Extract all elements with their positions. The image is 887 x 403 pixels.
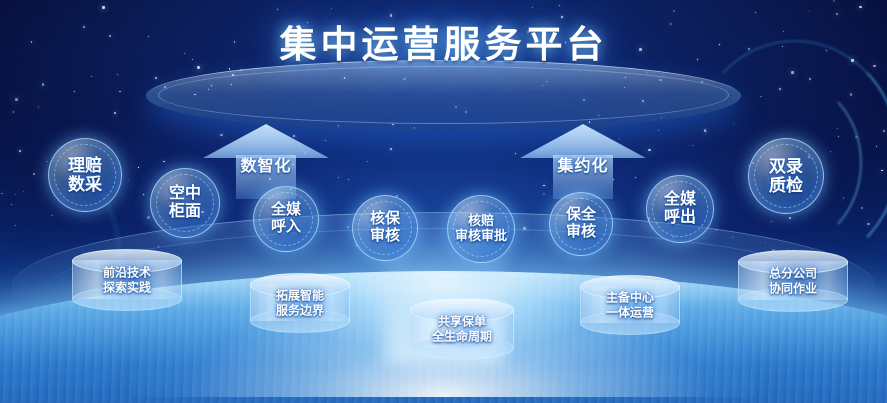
title-platform-rim xyxy=(158,66,729,124)
foundation-cylinder-label: 主备中心一体运营 xyxy=(580,290,680,319)
star-particle xyxy=(138,167,139,168)
star-particle xyxy=(771,221,772,222)
star-particle xyxy=(838,136,839,137)
star-particle xyxy=(128,180,129,181)
star-particle xyxy=(876,146,877,147)
capability-bubble-label: 空中柜面 xyxy=(166,185,204,221)
star-particle xyxy=(91,76,92,77)
star-particle xyxy=(658,130,659,131)
star-particle xyxy=(867,223,870,226)
star-particle xyxy=(559,5,560,6)
star-particle xyxy=(861,207,863,209)
star-particle xyxy=(843,197,845,199)
foundation-cylinder[interactable]: 共享保单全生命周期 xyxy=(410,298,514,360)
foundation-cylinder[interactable]: 拓展智能服务边界 xyxy=(250,273,350,333)
star-particle xyxy=(733,123,734,124)
star-particle xyxy=(705,131,707,133)
star-particle xyxy=(119,91,121,93)
star-particle xyxy=(515,153,516,154)
star-particle xyxy=(155,77,157,79)
capability-bubble[interactable]: 保全审核 xyxy=(549,192,613,256)
star-particle xyxy=(38,106,39,107)
star-particle xyxy=(11,204,12,205)
star-particle xyxy=(755,12,756,13)
star-particle xyxy=(532,7,533,8)
star-particle xyxy=(859,6,861,8)
star-particle xyxy=(779,88,781,90)
capability-bubble-label: 全媒呼出 xyxy=(661,191,699,227)
capability-bubble[interactable]: 核赔审核审批 xyxy=(447,195,515,263)
star-particle xyxy=(338,177,340,179)
foundation-cylinder[interactable]: 前沿技术探索实践 xyxy=(72,249,182,311)
star-particle xyxy=(117,74,118,75)
star-particle xyxy=(791,71,794,74)
star-particle xyxy=(830,151,831,152)
star-particle xyxy=(51,215,52,216)
infographic-canvas: 集中运营服务平台 数智化 集约化 理赔数采空中柜面全媒呼入核保审核核赔审核审批保… xyxy=(0,0,887,403)
foundation-cylinder[interactable]: 总分公司协同作业 xyxy=(738,250,848,312)
star-particle xyxy=(15,194,16,195)
star-particle xyxy=(23,191,24,192)
capability-bubble[interactable]: 理赔数采 xyxy=(48,138,122,212)
star-particle xyxy=(277,9,278,10)
star-particle xyxy=(809,11,810,12)
capability-bubble[interactable]: 空中柜面 xyxy=(150,168,220,238)
star-particle xyxy=(881,170,883,172)
star-particle xyxy=(229,68,231,70)
star-particle xyxy=(42,83,44,85)
star-particle xyxy=(760,96,762,98)
star-particle xyxy=(46,161,47,162)
star-particle xyxy=(348,179,349,180)
star-particle xyxy=(19,150,21,152)
arrow-label-right: 集约化 xyxy=(520,152,646,176)
arrow-label-left: 数智化 xyxy=(203,152,329,176)
star-particle xyxy=(390,148,392,150)
capability-bubble-label: 双录质检 xyxy=(766,157,806,195)
foundation-cylinder-label: 共享保单全生命周期 xyxy=(410,314,514,343)
star-particle xyxy=(143,194,144,195)
capability-bubble-label: 理赔数采 xyxy=(65,156,105,194)
star-particle xyxy=(33,173,36,176)
star-particle xyxy=(673,10,675,12)
foundation-cylinder-label: 前沿技术探索实践 xyxy=(72,265,182,294)
star-particle xyxy=(833,0,835,2)
capability-bubble[interactable]: 全媒呼入 xyxy=(253,186,319,252)
star-particle xyxy=(809,78,811,80)
foundation-cylinder-label: 拓展智能服务边界 xyxy=(250,288,350,317)
star-particle xyxy=(102,6,105,9)
arrow-jiyuehua: 集约化 xyxy=(520,124,646,198)
star-particle xyxy=(15,98,18,101)
star-particle xyxy=(1,193,2,194)
capability-bubble-label: 核保审核 xyxy=(367,211,403,245)
star-particle xyxy=(850,93,852,95)
star-particle xyxy=(367,161,368,162)
star-particle xyxy=(704,129,707,132)
star-particle xyxy=(648,149,651,152)
star-particle xyxy=(692,145,693,146)
star-particle xyxy=(114,112,116,114)
star-particle xyxy=(883,130,885,132)
star-particle xyxy=(837,128,838,129)
capability-bubble[interactable]: 核保审核 xyxy=(352,195,418,261)
star-particle xyxy=(855,136,858,139)
star-particle xyxy=(13,111,14,112)
page-title-text: 集中运营服务平台 xyxy=(280,14,608,68)
star-particle xyxy=(163,161,164,162)
arrow-shuzhihua: 数智化 xyxy=(203,124,329,198)
capability-bubble[interactable]: 全媒呼出 xyxy=(646,175,714,243)
foundation-cylinder[interactable]: 主备中心一体运营 xyxy=(580,275,680,335)
star-particle xyxy=(789,217,791,219)
star-particle xyxy=(331,8,332,9)
page-title: 集中运营服务平台 xyxy=(0,14,887,68)
capability-bubble-label: 全媒呼入 xyxy=(268,202,304,236)
star-particle xyxy=(74,91,75,92)
star-particle xyxy=(15,225,16,226)
capability-bubble[interactable]: 双录质检 xyxy=(748,138,824,214)
foundation-cylinder-label: 总分公司协同作业 xyxy=(738,266,848,295)
star-particle xyxy=(147,216,150,219)
capability-bubble-label: 保全审核 xyxy=(563,207,599,241)
capability-bubble-label: 核赔审核审批 xyxy=(452,214,510,243)
